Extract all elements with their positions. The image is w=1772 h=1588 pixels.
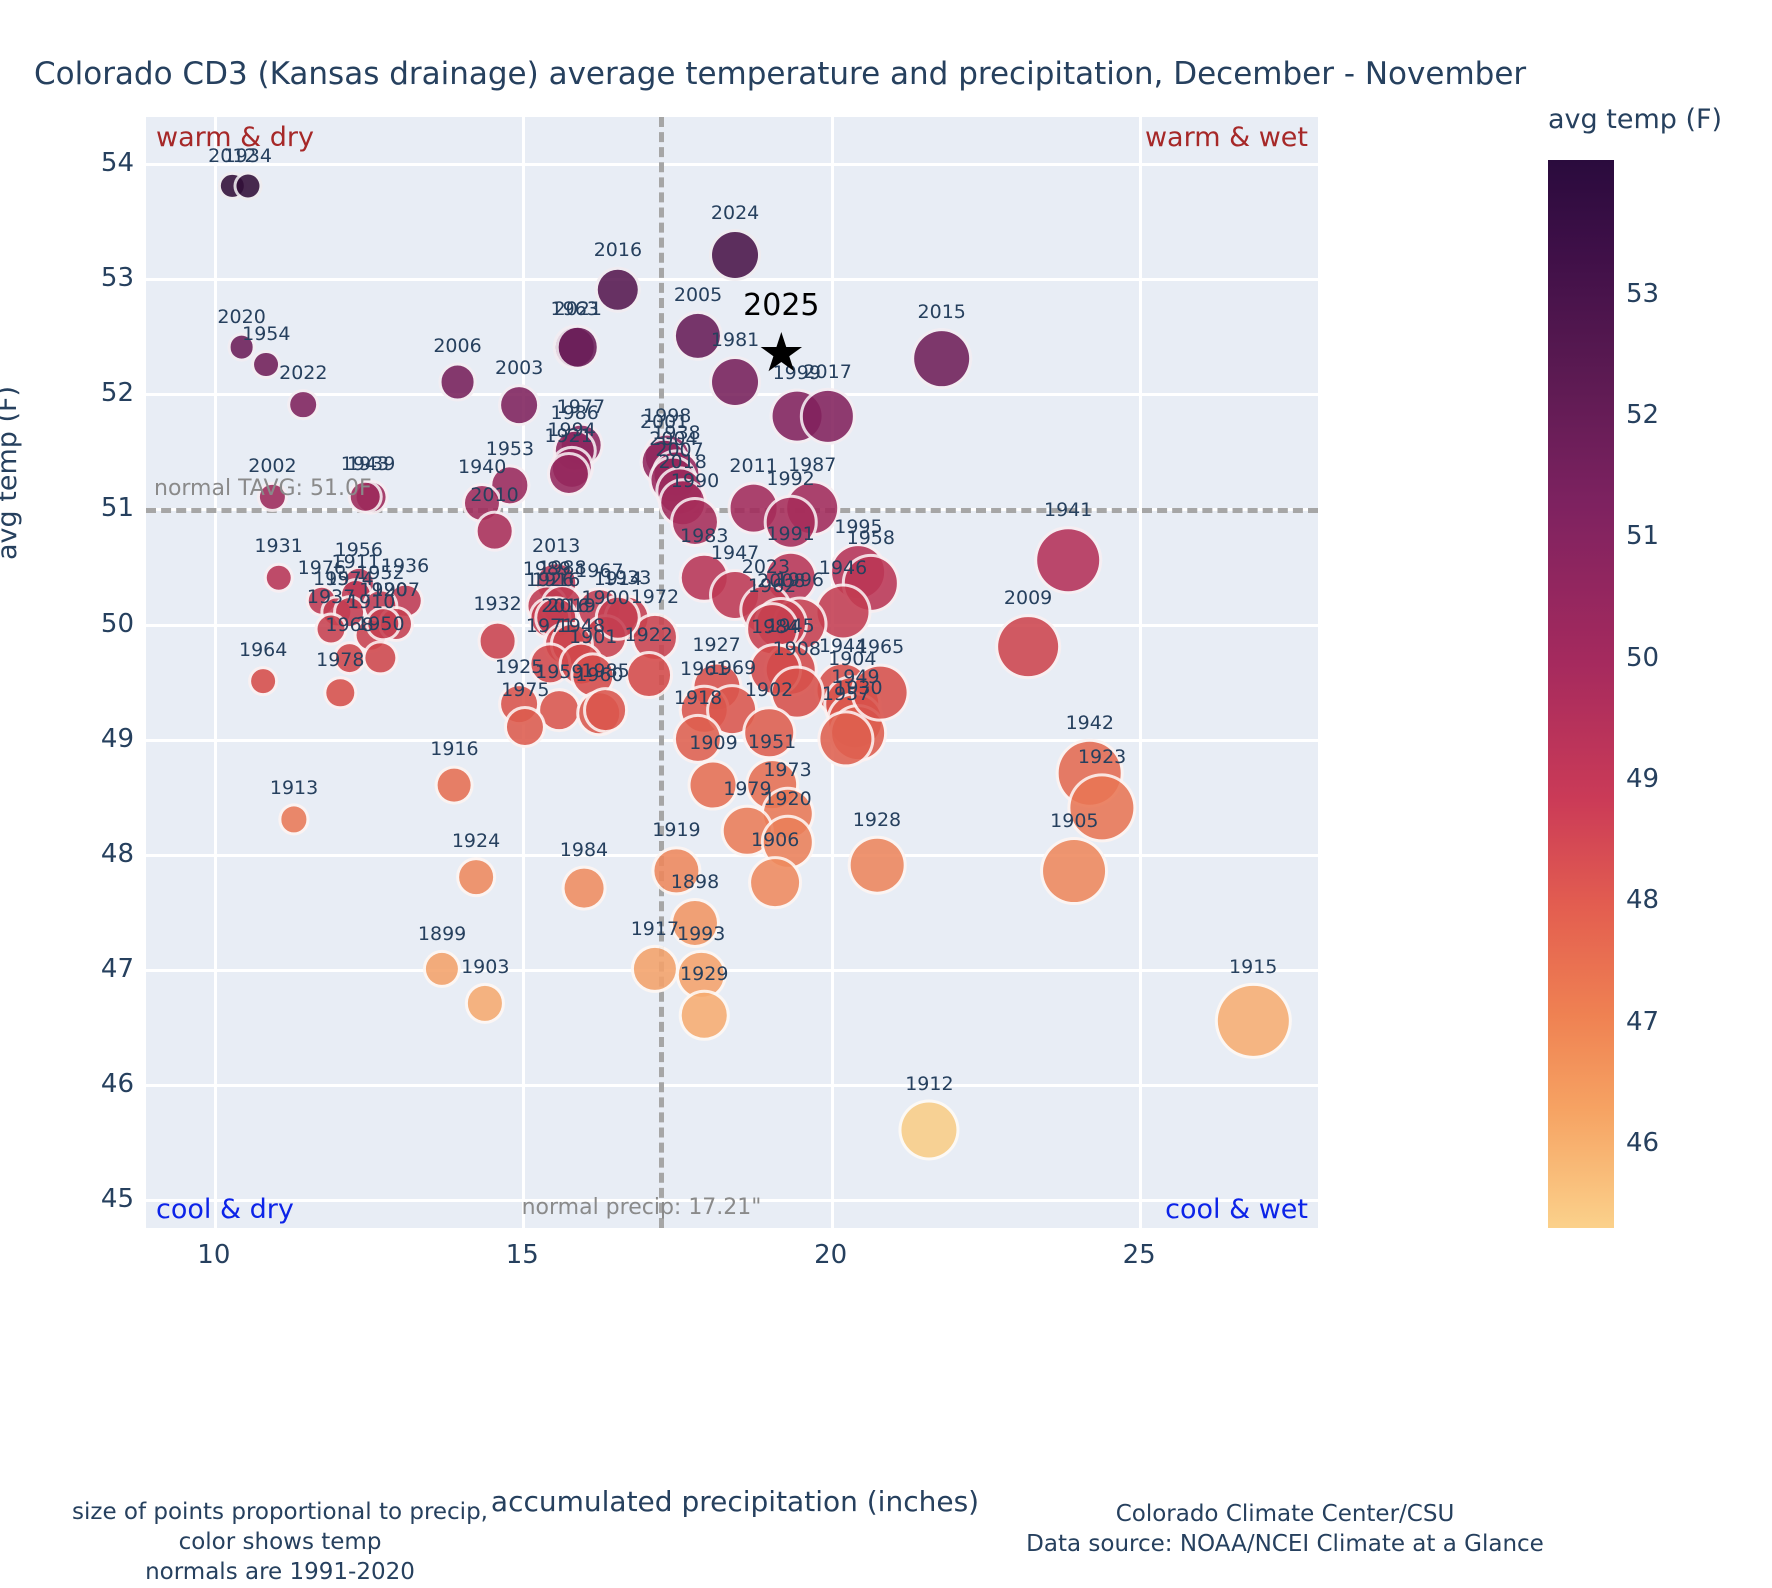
y-axis-tick-label: 48 xyxy=(101,839,134,869)
data-point[interactable] xyxy=(670,898,720,948)
data-point[interactable] xyxy=(456,857,496,897)
data-point[interactable] xyxy=(324,676,357,709)
data-point-label: 1964 xyxy=(239,639,287,661)
data-point-label: 2022 xyxy=(279,362,327,384)
x-axis-tick-label: 20 xyxy=(814,1240,847,1270)
data-point-label: 2013 xyxy=(532,535,580,557)
x-gridline xyxy=(214,117,217,1228)
data-point-label: 1943 xyxy=(341,453,389,475)
data-point-label: 2020 xyxy=(217,306,265,328)
data-point[interactable] xyxy=(423,950,461,988)
data-point-label: 2017 xyxy=(803,361,851,383)
data-point[interactable] xyxy=(1040,837,1108,905)
data-point-label: 1924 xyxy=(452,830,500,852)
data-point[interactable] xyxy=(465,983,505,1023)
data-point-label: 1913 xyxy=(270,777,318,799)
data-point[interactable] xyxy=(562,866,607,911)
data-point-label: 1977 xyxy=(557,396,605,418)
footnote-left: size of points proportional to precip, c… xyxy=(70,1498,490,1588)
normal-precip-annotation: normal precip: 17.21" xyxy=(522,1195,762,1220)
data-point-label: 1899 xyxy=(418,923,466,945)
data-point-label: 1987 xyxy=(788,454,836,476)
data-point-label: 2003 xyxy=(495,357,543,379)
data-point[interactable] xyxy=(673,714,723,764)
y-axis-tick-label: 54 xyxy=(101,148,134,178)
x-gridline xyxy=(1139,117,1142,1228)
data-point[interactable] xyxy=(363,640,398,675)
colorbar-title: avg temp (F) xyxy=(1548,104,1722,135)
data-point-label: 1931 xyxy=(254,535,302,557)
data-point-label: 1936 xyxy=(381,555,429,577)
data-point[interactable] xyxy=(848,836,907,895)
x-axis-tick-label: 10 xyxy=(197,1240,230,1270)
y-axis-tick-label: 45 xyxy=(101,1184,134,1214)
data-point-label: 1995 xyxy=(834,516,882,538)
data-point[interactable] xyxy=(1215,983,1291,1059)
data-point[interactable] xyxy=(709,229,761,281)
quadrant-label-warm-dry: warm & dry xyxy=(156,122,314,153)
y-axis-label: avg temp (F) xyxy=(0,386,23,560)
data-point[interactable] xyxy=(435,765,474,804)
y-axis-tick-label: 47 xyxy=(101,954,134,984)
quadrant-label-warm-wet: warm & wet xyxy=(1145,122,1308,153)
footnote-right: Colorado Climate Center/CSU Data source:… xyxy=(1015,1500,1555,1560)
colorbar-tick-label: 46 xyxy=(1626,1128,1659,1158)
data-point[interactable] xyxy=(673,311,723,361)
data-point-label: 1953 xyxy=(486,438,534,460)
data-point[interactable] xyxy=(251,350,281,380)
highlight-star-label: 2025 xyxy=(743,288,819,323)
data-point-label: 1984 xyxy=(560,839,608,861)
quadrant-label-cool-dry: cool & dry xyxy=(156,1194,294,1225)
data-point-label: 1967 xyxy=(575,560,623,582)
data-point-label: 2005 xyxy=(674,284,722,306)
data-point[interactable] xyxy=(899,1100,960,1161)
data-point-label: 1998 xyxy=(643,405,691,427)
y-gridline xyxy=(146,854,1318,857)
data-point[interactable] xyxy=(748,856,802,910)
data-point-label: 1942 xyxy=(1066,712,1114,734)
data-point-label: 2001 xyxy=(640,411,688,433)
data-point-label: 1927 xyxy=(692,634,740,656)
data-point-label: 1963 xyxy=(551,298,599,320)
data-point[interactable] xyxy=(911,328,973,390)
data-point[interactable] xyxy=(679,990,730,1041)
data-point[interactable] xyxy=(287,389,319,421)
data-point[interactable] xyxy=(278,804,309,835)
data-point-label: 1928 xyxy=(853,809,901,831)
y-axis-tick-label: 50 xyxy=(101,609,134,639)
y-axis-tick-label: 46 xyxy=(101,1069,134,1099)
data-point[interactable] xyxy=(851,663,910,722)
data-point-label: 1956 xyxy=(335,539,383,561)
page-title: Colorado CD3 (Kansas drainage) average t… xyxy=(34,56,1734,92)
data-point[interactable] xyxy=(1067,773,1136,842)
data-point[interactable] xyxy=(438,362,477,401)
x-gridline xyxy=(522,117,525,1228)
data-point-label: 2006 xyxy=(433,335,481,357)
colorbar-tick-label: 52 xyxy=(1626,400,1659,430)
y-axis-tick-label: 53 xyxy=(101,263,134,293)
data-point[interactable] xyxy=(546,452,590,496)
data-point-label: 2002 xyxy=(248,455,296,477)
quadrant-label-cool-wet: cool & wet xyxy=(1165,1194,1308,1225)
y-axis-tick-label: 52 xyxy=(101,378,134,408)
data-point[interactable] xyxy=(595,266,641,312)
data-point-label: 1915 xyxy=(1229,956,1277,978)
data-point-label: 1932 xyxy=(473,593,521,615)
data-point[interactable] xyxy=(688,759,739,810)
data-point[interactable] xyxy=(504,706,546,748)
scatter-plot-area: 2012193420242016202020052015195419632021… xyxy=(146,117,1318,1228)
colorbar-tick-label: 53 xyxy=(1626,279,1659,309)
colorbar-gradient xyxy=(1548,160,1614,1228)
data-point-label: 1965 xyxy=(856,636,904,658)
data-point-label: 1976 xyxy=(298,557,346,579)
data-point[interactable] xyxy=(333,641,367,675)
data-point[interactable] xyxy=(652,847,701,896)
colorbar-tick-label: 47 xyxy=(1626,1007,1659,1037)
data-point[interactable] xyxy=(709,356,761,408)
data-point[interactable] xyxy=(631,945,679,993)
data-point[interactable] xyxy=(625,651,673,699)
colorbar-tick-label: 48 xyxy=(1626,885,1659,915)
y-axis-tick-label: 51 xyxy=(101,493,134,523)
data-point[interactable] xyxy=(799,388,855,444)
x-axis-tick-label: 25 xyxy=(1123,1240,1156,1270)
y-gridline xyxy=(146,969,1318,972)
highlight-star-icon[interactable]: ★ xyxy=(757,326,805,380)
normal-temp-annotation: normal TAVG: 51.0F xyxy=(154,476,372,501)
y-gridline xyxy=(146,163,1318,166)
colorbar: 4647484950515253 xyxy=(1548,160,1614,1228)
data-point[interactable] xyxy=(670,497,720,547)
colorbar-tick-label: 50 xyxy=(1626,643,1659,673)
y-gridline xyxy=(146,739,1318,742)
data-point-label: 1903 xyxy=(461,956,509,978)
data-point-label: 2024 xyxy=(711,202,759,224)
data-point[interactable] xyxy=(763,495,818,550)
data-point-label: 1933 xyxy=(603,567,651,589)
data-point[interactable] xyxy=(263,562,293,592)
data-point-label: 2016 xyxy=(594,239,642,261)
y-axis-tick-label: 49 xyxy=(101,724,134,754)
data-point-label: 2011 xyxy=(729,455,777,477)
data-point-label: 1986 xyxy=(551,402,599,424)
colorbar-tick-label: 49 xyxy=(1626,764,1659,794)
y-gridline xyxy=(146,1084,1318,1087)
data-point-label: 2015 xyxy=(918,301,966,323)
data-point[interactable] xyxy=(474,511,515,552)
data-point[interactable] xyxy=(1034,526,1102,594)
data-point-label: 2021 xyxy=(554,298,602,320)
data-point[interactable] xyxy=(995,614,1061,680)
colorbar-tick-label: 51 xyxy=(1626,521,1659,551)
data-point[interactable] xyxy=(233,172,262,201)
data-point[interactable] xyxy=(248,666,278,696)
data-point[interactable] xyxy=(742,706,796,760)
data-point[interactable] xyxy=(556,325,601,370)
data-point-label: 2009 xyxy=(1004,587,1052,609)
x-axis-tick-label: 15 xyxy=(506,1240,539,1270)
data-point[interactable] xyxy=(498,384,540,426)
data-point[interactable] xyxy=(477,620,518,661)
data-point-label: 1939 xyxy=(347,453,395,475)
data-point[interactable] xyxy=(315,613,348,646)
data-point[interactable] xyxy=(583,687,629,733)
x-axis-label: accumulated precipitation (inches) xyxy=(491,1485,979,1518)
data-point[interactable] xyxy=(227,333,256,362)
